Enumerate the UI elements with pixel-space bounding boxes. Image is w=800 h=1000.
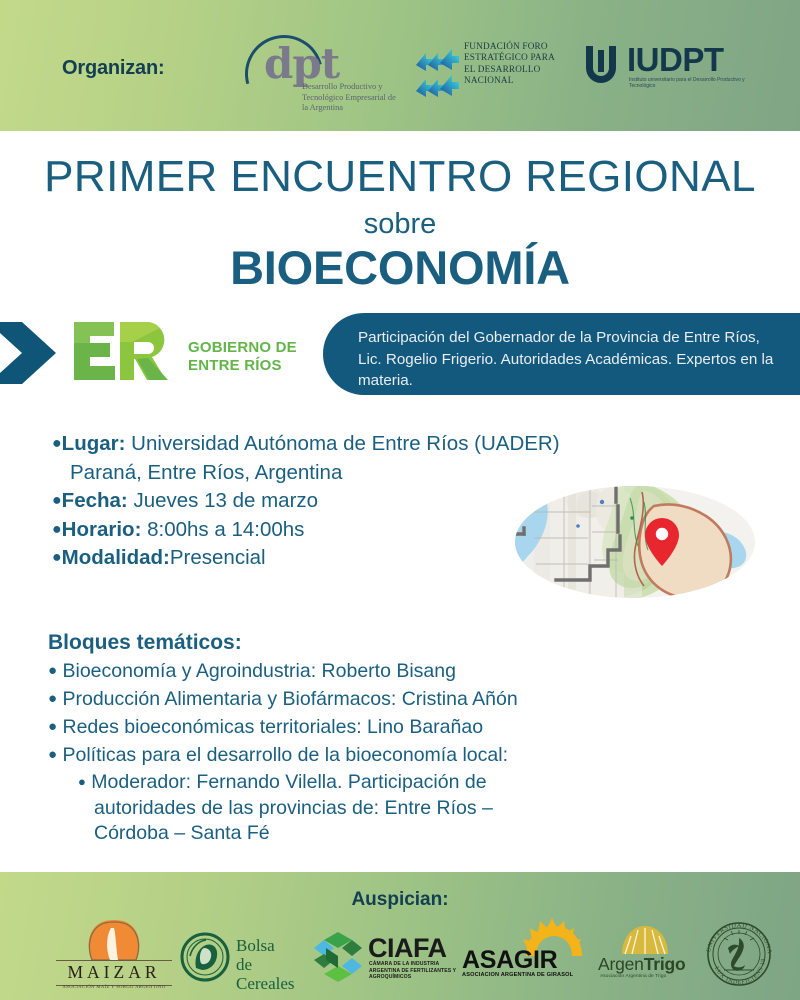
bullet-icon: ● <box>78 774 86 789</box>
block-subitem-line1: Moderador: Fernando Vilella. Participaci… <box>91 771 486 793</box>
gov-line-1: GOBIERNO DE <box>188 339 297 357</box>
detail-label-lugar: Lugar: <box>62 432 126 455</box>
detail-label-fecha: Fecha: <box>62 489 128 512</box>
map-argentina-entre-rios <box>512 472 758 612</box>
block-subitem-line2: autoridades de las provincias de: Entre … <box>94 797 493 819</box>
detail-label-horario: Horario: <box>62 518 142 541</box>
event-poster: Organizan: dpt Desarrollo Productivo y T… <box>0 0 800 1000</box>
sponsor-logo-argentrigo: ArgenTrigo Asociación Argentina de Trigo <box>598 922 692 988</box>
poster-title-line1: PRIMER ENCUENTRO REGIONAL <box>0 152 800 202</box>
bullet-icon: ● <box>48 662 57 679</box>
bullet-icon: ● <box>48 746 57 763</box>
poster-title-line2: sobre <box>0 208 800 241</box>
detail-label-modalidad: Modalidad: <box>62 546 170 569</box>
iudpt-u-icon <box>583 46 619 84</box>
maizar-subtitle: ASOCIACIÓN MAÍZ Y SORGO ARGENTINO <box>56 984 172 989</box>
foro-arrows-icon <box>414 41 460 97</box>
block-item: ● Redes bioeconómicas territoriales: Lin… <box>48 713 648 741</box>
event-details-list: ●Lugar: Universidad Autónoma de Entre Rí… <box>52 430 522 573</box>
svg-text:UNIVERSIDAD NACIONAL DEL LITOR: UNIVERSIDAD NACIONAL DEL LITORAL <box>700 914 773 955</box>
sponsors-label: Auspician: <box>0 889 800 911</box>
ciafa-subtitle: CÁMARA DE LA INDUSTRIA ARGENTINA DE FERT… <box>369 961 464 981</box>
sponsor-logo-asagir: ASAGIR ASOCIACION ARGENTINA DE GIRASOL <box>462 918 590 988</box>
dpt-wordmark: dpt <box>264 39 339 88</box>
iudpt-wordmark: IUDPT <box>627 41 724 79</box>
bolsa-wordmark: Bolsa de Cereales <box>236 936 308 993</box>
governor-statement-pill: Participación del Gobernador de la Provi… <box>323 313 800 395</box>
maizar-corn-icon <box>56 920 172 962</box>
argentrigo-name-part2: Trigo <box>644 954 686 974</box>
block-subitem-line3: Córdoba – Santa Fé <box>94 822 270 844</box>
asagir-subtitle: ASOCIACION ARGENTINA DE GIRASOL <box>462 972 590 978</box>
map-image <box>512 472 758 612</box>
bolsa-line1: Bolsa <box>236 936 308 955</box>
argentrigo-name-part1: Argen <box>598 954 644 974</box>
organizers-label: Organizan: <box>62 57 164 80</box>
detail-value-lugar: Universidad Autónoma de Entre Ríos (UADE… <box>131 432 559 455</box>
detail-value-fecha: Jueves 13 de marzo <box>133 489 318 512</box>
block-item: ● Políticas para el desarrollo de la bio… <box>48 741 648 769</box>
bullet-icon: ● <box>52 492 62 509</box>
sponsor-logo-unl: UNIVERSIDAD NACIONAL DEL LITORAL LUX IND… <box>700 914 778 992</box>
bolsa-line2: de Cereales <box>236 955 308 993</box>
ciafa-hex-icon <box>312 930 364 984</box>
block-item-label: Bioeconomía y Agroindustria: Roberto Bis… <box>62 660 455 682</box>
detail-value-horario: 8:00hs a 14:00hs <box>147 518 304 541</box>
bullet-icon: ● <box>52 435 62 452</box>
sponsor-logo-maizar: MAIZAR ASOCIACIÓN MAÍZ Y SORGO ARGENTINO <box>56 920 172 992</box>
organizer-logo-iudpt: IUDPT Instituto universitario para el De… <box>583 44 748 100</box>
foro-wordmark: FUNDACIÓN FORO ESTRATÉGICO PARA EL DESAR… <box>464 41 566 87</box>
block-subitem-cont1: autoridades de las provincias de: Entre … <box>78 796 648 822</box>
argentrigo-wordmark: ArgenTrigo <box>598 954 692 975</box>
bolsa-seal-icon <box>180 932 230 982</box>
blocks-list: ● Bioeconomía y Agroindustria: Roberto B… <box>48 657 648 847</box>
blocks-heading: Bloques temáticos: <box>48 631 242 655</box>
organizer-logo-dpt: dpt Desarrollo Productivo y Tecnológico … <box>240 33 390 118</box>
poster-title-line3: BIOECONOMÍA <box>0 240 800 295</box>
iudpt-subtitle: Instituto universitario para el Desarrol… <box>629 77 747 90</box>
ciafa-wordmark: CIAFA <box>368 933 447 964</box>
unl-seal-icon: UNIVERSIDAD NACIONAL DEL LITORAL LUX IND… <box>700 914 778 992</box>
block-item-label: Políticas para el desarrollo de la bioec… <box>62 744 508 766</box>
detail-value-modalidad: Presencial <box>170 546 266 569</box>
argentrigo-wheat-icon <box>618 922 672 956</box>
detail-row-lugar: ●Lugar: Universidad Autónoma de Entre Rí… <box>52 430 522 459</box>
gov-line-2: ENTRE RÍOS <box>188 357 297 375</box>
sponsor-logo-bolsa-de-cereales: Bolsa de Cereales <box>180 930 308 988</box>
organizer-logo-fundacion-foro: FUNDACIÓN FORO ESTRATÉGICO PARA EL DESAR… <box>414 41 566 103</box>
bullet-icon: ● <box>52 549 62 566</box>
governor-statement-text: Participación del Gobernador de la Provi… <box>358 327 778 392</box>
dpt-subtitle: Desarrollo Productivo y Tecnológico Empr… <box>302 82 398 114</box>
entre-rios-er-logo <box>72 320 172 382</box>
sponsors-row: MAIZAR ASOCIACIÓN MAÍZ Y SORGO ARGENTINO… <box>0 914 800 994</box>
detail-row-fecha: ●Fecha: Jueves 13 de marzo <box>52 487 522 516</box>
chevron-right-icon <box>0 318 62 388</box>
detail-row-modalidad: ●Modalidad:Presencial <box>52 544 522 573</box>
detail-row-horario: ●Horario: 8:00hs a 14:00hs <box>52 516 522 545</box>
block-item: ● Bioeconomía y Agroindustria: Roberto B… <box>48 657 648 685</box>
block-item-label: Redes bioeconómicas territoriales: Lino … <box>62 716 483 738</box>
bullet-icon: ● <box>48 718 57 735</box>
bullet-icon: ● <box>52 521 62 538</box>
block-item: ● Producción Alimentaria y Biofármacos: … <box>48 685 648 713</box>
argentrigo-subtitle: Asociación Argentina de Trigo <box>600 974 692 979</box>
maizar-wordmark: MAIZAR <box>56 960 172 986</box>
block-subitem: ● Moderador: Fernando Vilella. Participa… <box>78 769 648 796</box>
sponsor-logo-ciafa: CIAFA CÁMARA DE LA INDUSTRIA ARGENTINA D… <box>312 928 462 988</box>
block-subitem-cont2: Córdoba – Santa Fé <box>78 821 648 847</box>
bullet-icon: ● <box>48 690 57 707</box>
detail-continuation-lugar: Paraná, Entre Ríos, Argentina <box>52 459 522 488</box>
entre-rios-gov-label: GOBIERNO DE ENTRE RÍOS <box>188 339 297 375</box>
block-item-label: Producción Alimentaria y Biofármacos: Cr… <box>62 688 517 710</box>
asagir-wordmark: ASAGIR <box>462 946 557 975</box>
